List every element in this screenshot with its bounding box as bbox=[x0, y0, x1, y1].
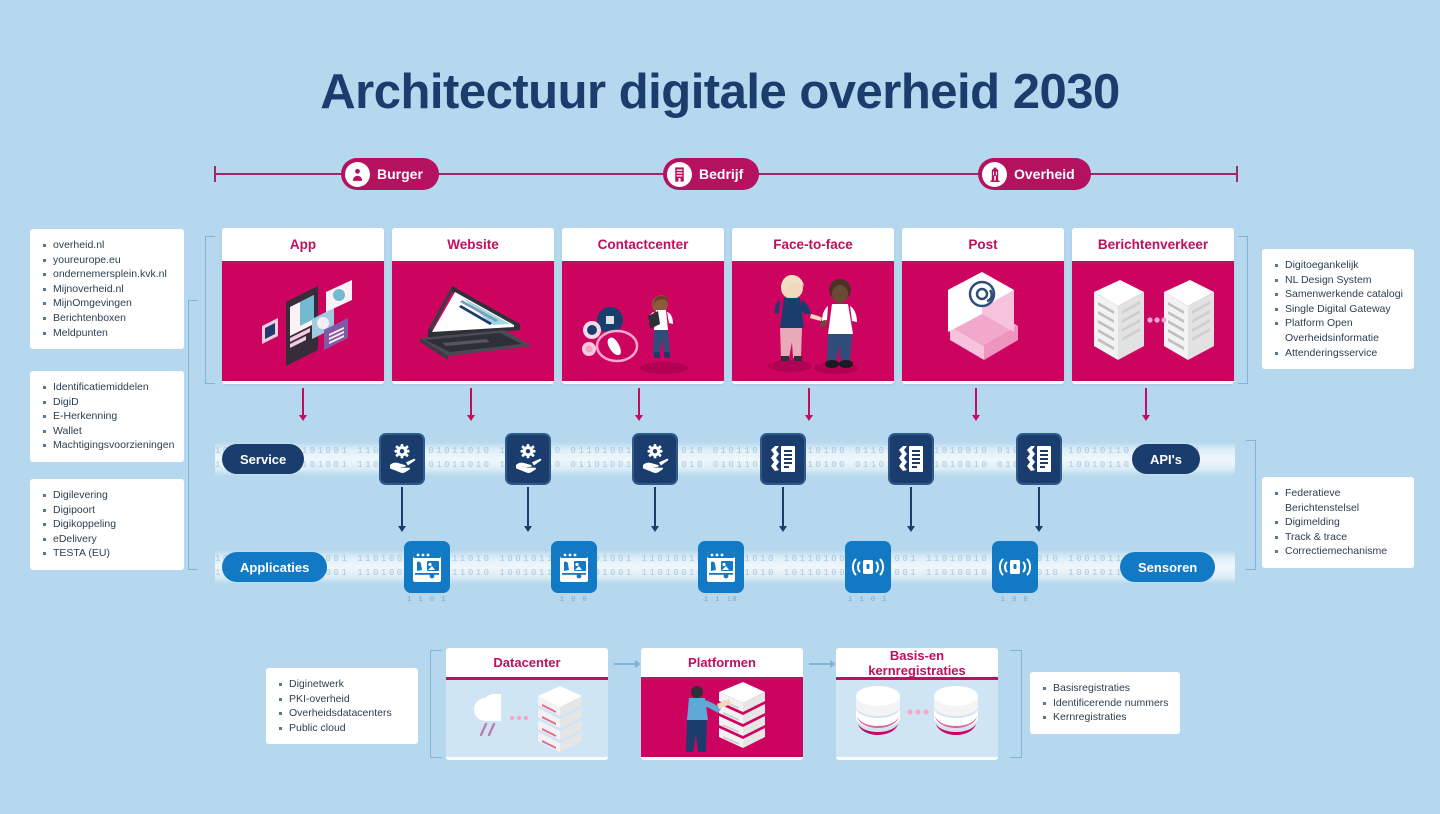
arrow-service-to-app-3 bbox=[654, 487, 656, 527]
left-spine-bracket bbox=[188, 300, 198, 570]
laptop-illustration bbox=[392, 264, 554, 381]
binary-label: 1 1 10 bbox=[691, 596, 751, 605]
infrastructure-card-platformen[interactable]: Platformen bbox=[641, 648, 803, 760]
arrow-service-to-app-2 bbox=[527, 487, 529, 527]
list-item: TESTA (EU) bbox=[42, 546, 174, 561]
channels-list: overheid.nl youreurope.eu ondernemersple… bbox=[30, 229, 184, 349]
application-tile-app-window[interactable] bbox=[551, 541, 597, 593]
list-item: Berichtenboxen bbox=[42, 311, 174, 326]
channel-card-website[interactable]: Website bbox=[392, 228, 554, 384]
person-icon bbox=[345, 162, 370, 187]
list-item: Diginetwerk bbox=[278, 677, 408, 692]
list-item: Samenwerkende catalogi bbox=[1274, 287, 1404, 302]
channel-title: Face-to-face bbox=[732, 228, 894, 264]
list-item: NL Design System bbox=[1274, 273, 1404, 288]
binary-label: 1 0 0 bbox=[985, 596, 1045, 605]
list-item: Wallet bbox=[42, 424, 174, 439]
channel-title: Contactcenter bbox=[562, 228, 724, 264]
list-item: E-Herkenning bbox=[42, 409, 174, 424]
list-item: Overheidsdatacenters bbox=[278, 706, 408, 721]
infrastructure-bracket-left bbox=[430, 650, 442, 758]
infrastructure-card-registries[interactable]: Basis-en kernregistraties bbox=[836, 648, 998, 760]
sensor-signal-icon bbox=[998, 554, 1032, 580]
service-tile-api-document[interactable] bbox=[760, 433, 806, 485]
app-window-icon bbox=[705, 550, 737, 584]
gear-on-hand-icon bbox=[640, 443, 670, 475]
layer-pill-sensoren[interactable]: Sensoren bbox=[1120, 552, 1215, 582]
cloud-and-server-stack-illustration bbox=[446, 680, 608, 757]
arrow-berichtenverkeer-to-service bbox=[1145, 388, 1147, 416]
application-tile-app-window[interactable] bbox=[404, 541, 450, 593]
arrow-app-to-service bbox=[302, 388, 304, 416]
channel-bracket-left bbox=[205, 236, 215, 384]
layer-pill-applicaties[interactable]: Applicaties bbox=[222, 552, 327, 582]
audience-axis-cap-left bbox=[214, 166, 216, 182]
list-item: Digitoegankelijk bbox=[1274, 258, 1404, 273]
channel-title: App bbox=[222, 228, 384, 264]
channel-card-face-to-face[interactable]: Face-to-face bbox=[732, 228, 894, 384]
list-item: Kernregistraties bbox=[1042, 710, 1170, 725]
arrow-website-to-service bbox=[470, 388, 472, 416]
list-item: Digilevering bbox=[42, 488, 174, 503]
service-layer-strip: 10110100 01101001 11010010 01011010 1001… bbox=[215, 442, 1235, 476]
list-item: Identificerende nummers bbox=[1042, 696, 1170, 711]
infrastructure-card-datacenter[interactable]: Datacenter bbox=[446, 648, 608, 760]
list-item: Mijnoverheid.nl bbox=[42, 282, 174, 297]
interconnect-list: Digilevering Digipoort Digikoppeling eDe… bbox=[30, 479, 184, 570]
list-item-continuation: Berichtenstelsel bbox=[1274, 501, 1404, 516]
channel-card-contactcenter[interactable]: Contactcenter bbox=[562, 228, 724, 384]
list-item: Identificatiemiddelen bbox=[42, 380, 174, 395]
envelopes-with-at-symbol-illustration bbox=[902, 264, 1064, 381]
office-building-icon bbox=[667, 162, 692, 187]
binary-label: 1 0 0 bbox=[544, 596, 604, 605]
service-tile-api-document[interactable] bbox=[1016, 433, 1062, 485]
list-item: overheid.nl bbox=[42, 238, 174, 253]
list-item: Correctiemechanisme bbox=[1274, 544, 1404, 559]
sensor-signal-icon bbox=[851, 554, 885, 580]
arrow-platformen-to-registries bbox=[809, 663, 831, 665]
list-item: Meldpunten bbox=[42, 326, 174, 341]
list-item: Track & trace bbox=[1274, 530, 1404, 545]
binary-texture: 10110100 01101001 11010010 01011010 1001… bbox=[215, 445, 1235, 458]
service-tile-gear-on-hand[interactable] bbox=[632, 433, 678, 485]
two-people-talking-illustration bbox=[732, 264, 894, 381]
arrow-facetoface-to-service bbox=[808, 388, 810, 416]
arrow-service-to-app-1 bbox=[401, 487, 403, 527]
arrow-contactcenter-to-service bbox=[638, 388, 640, 416]
gear-on-hand-icon bbox=[513, 443, 543, 475]
app-window-icon bbox=[558, 550, 590, 584]
audience-pill-burger[interactable]: Burger bbox=[341, 158, 439, 190]
list-item: Federatieve bbox=[1274, 486, 1404, 501]
arrow-service-to-sensor-3 bbox=[1038, 487, 1040, 527]
list-item: Digikoppeling bbox=[42, 517, 174, 532]
list-item: Digipoort bbox=[42, 503, 174, 518]
channel-card-app[interactable]: App bbox=[222, 228, 384, 384]
page-title: Architectuur digitale overheid 2030 bbox=[0, 64, 1440, 120]
channel-title: Berichtenverkeer bbox=[1072, 228, 1234, 264]
list-item: PKI-overheid bbox=[278, 692, 408, 707]
service-tile-gear-on-hand[interactable] bbox=[379, 433, 425, 485]
government-building-icon bbox=[982, 162, 1007, 187]
layer-pill-apis[interactable]: API's bbox=[1132, 444, 1200, 474]
card-title: Basis-en kernregistraties bbox=[836, 648, 998, 680]
list-item: Attenderingsservice bbox=[1274, 346, 1404, 361]
identity-list: Identificatiemiddelen DigiD E-Herkenning… bbox=[30, 371, 184, 462]
application-tile-app-window[interactable] bbox=[698, 541, 744, 593]
two-servers-illustration bbox=[1072, 264, 1234, 381]
card-title: Platformen bbox=[641, 648, 803, 680]
arrow-service-to-sensor-2 bbox=[910, 487, 912, 527]
channel-card-berichtenverkeer[interactable]: Berichtenverkeer bbox=[1072, 228, 1234, 384]
smartphone-with-cards-illustration bbox=[222, 264, 384, 381]
arrow-service-to-sensor-1 bbox=[782, 487, 784, 527]
list-item-continuation: Overheidsinformatie bbox=[1274, 331, 1404, 346]
binary-label: 1 1 0 1 bbox=[397, 596, 457, 605]
sensor-tile-signal[interactable] bbox=[845, 541, 891, 593]
audience-label: Burger bbox=[377, 166, 423, 182]
binary-texture: 10110100 01101001 11010010 01011010 1001… bbox=[215, 459, 1235, 472]
list-item: Public cloud bbox=[278, 721, 408, 736]
list-item: Machtigingsvoorzieningen bbox=[42, 438, 174, 453]
list-item: DigiD bbox=[42, 395, 174, 410]
service-tile-api-document[interactable] bbox=[888, 433, 934, 485]
infographic-canvas: Architectuur digitale overheid 2030 Burg… bbox=[0, 0, 1440, 814]
list-item: Digimelding bbox=[1274, 515, 1404, 530]
list-item: ondernemersplein.kvk.nl bbox=[42, 267, 174, 282]
binary-label: 1 1 0 1 bbox=[838, 596, 898, 605]
channel-bracket-right bbox=[1238, 236, 1248, 384]
arrow-datacenter-to-platformen bbox=[614, 663, 636, 665]
api-document-icon bbox=[1024, 443, 1054, 475]
app-window-icon bbox=[411, 550, 443, 584]
list-item: Basisregistraties bbox=[1042, 681, 1170, 696]
messaging-list: Federatieve Berichtenstelsel Digimelding… bbox=[1262, 477, 1414, 568]
list-item: MijnOmgevingen bbox=[42, 296, 174, 311]
audience-label: Bedrijf bbox=[699, 166, 743, 182]
list-item: youreurope.eu bbox=[42, 253, 174, 268]
channel-title: Website bbox=[392, 228, 554, 264]
sensor-tile-signal[interactable] bbox=[992, 541, 1038, 593]
person-at-server-stack-illustration bbox=[641, 680, 803, 757]
audience-label: Overheid bbox=[1014, 166, 1075, 182]
channel-title: Post bbox=[902, 228, 1064, 264]
list-item: Platform Open bbox=[1274, 316, 1404, 331]
right-spine-bracket bbox=[1246, 440, 1256, 570]
list-item: eDelivery bbox=[42, 532, 174, 547]
audience-pill-bedrijf[interactable]: Bedrijf bbox=[663, 158, 759, 190]
network-list: Diginetwerk PKI-overheid Overheidsdatace… bbox=[266, 668, 418, 744]
api-document-icon bbox=[896, 443, 926, 475]
api-document-icon bbox=[768, 443, 798, 475]
card-title: Datacenter bbox=[446, 648, 608, 680]
layer-pill-service[interactable]: Service bbox=[222, 444, 304, 474]
audience-axis-cap-right bbox=[1236, 166, 1238, 182]
service-tile-gear-on-hand[interactable] bbox=[505, 433, 551, 485]
audience-pill-overheid[interactable]: Overheid bbox=[978, 158, 1091, 190]
two-databases-illustration bbox=[836, 680, 998, 757]
infrastructure-bracket-right bbox=[1010, 650, 1022, 758]
arrow-post-to-service bbox=[975, 388, 977, 416]
registry-list: Basisregistraties Identificerende nummer… bbox=[1030, 672, 1180, 734]
agent-with-tablet-and-call-bubbles-illustration bbox=[562, 264, 724, 381]
gear-on-hand-icon bbox=[387, 443, 417, 475]
list-item: Single Digital Gateway bbox=[1274, 302, 1404, 317]
standards-list: Digitoegankelijk NL Design System Samenw… bbox=[1262, 249, 1414, 369]
channel-card-post[interactable]: Post bbox=[902, 228, 1064, 384]
